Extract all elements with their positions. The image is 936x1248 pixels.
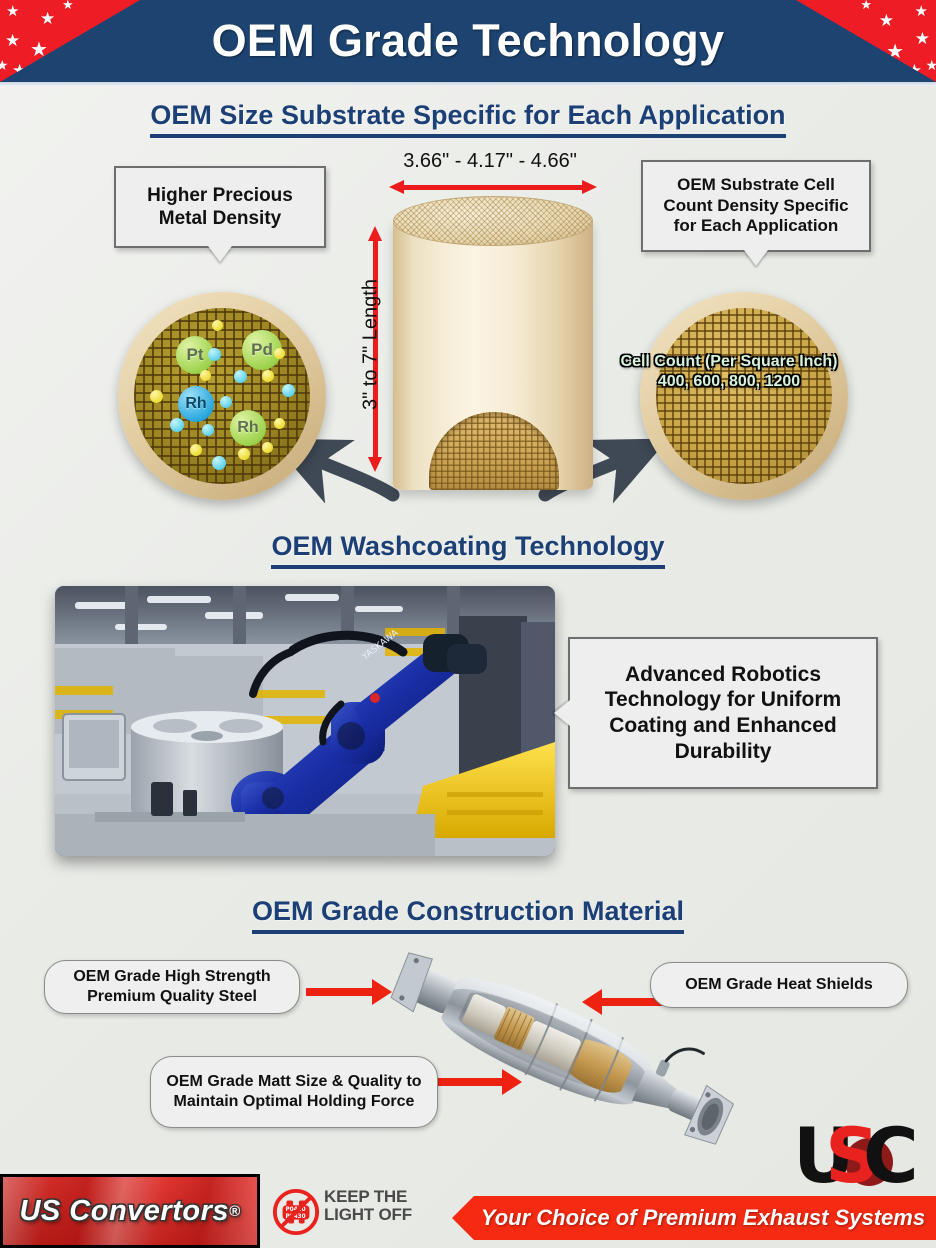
callout-text: OEM Substrate Cell Count Density Specifi… xyxy=(651,175,861,237)
callout-text: Higher Precious Metal Density xyxy=(124,184,316,230)
metal-dot xyxy=(208,348,221,361)
footer-tagline-banner: Your Choice of Premium Exhaust Systems xyxy=(452,1196,936,1240)
cell-count-annotation: Cell Count (Per Square Inch) 400, 600, 8… xyxy=(594,352,864,391)
diameter-dimension-arrow-icon xyxy=(389,180,597,194)
header-divider xyxy=(0,82,936,86)
arrow-to-matt-icon xyxy=(432,1078,524,1086)
page-header: ★ ★ ★ ★ ★ ★ ★ ★ ★ ★ ★ ★ ★ ★ OEM Grade Te… xyxy=(0,0,936,82)
arrow-to-steel-icon xyxy=(306,988,392,996)
tagline-text: Your Choice of Premium Exhaust Systems xyxy=(481,1205,925,1231)
callout-tail xyxy=(744,250,768,266)
arrowhead-bottom xyxy=(368,457,382,472)
substrate-cylinder xyxy=(393,196,593,496)
substrate-cell-grid: Pt Pd Rh Rh xyxy=(134,308,310,484)
callout-advanced-robotics: Advanced Robotics Technology for Uniform… xyxy=(568,637,878,789)
metal-symbol: Rh xyxy=(185,395,206,413)
brand-text: US Convertors xyxy=(19,1195,229,1228)
usc-letter-c: C xyxy=(863,1112,919,1190)
callout-premium-quality-steel: OEM Grade High Strength Premium Quality … xyxy=(44,960,300,1014)
substrate-face-cell-count xyxy=(640,292,848,500)
section-heading-construction: OEM Grade Construction Material xyxy=(0,896,936,934)
arrowhead xyxy=(582,989,602,1015)
keep-light-line-1: KEEP THE xyxy=(324,1188,444,1206)
usc-logo: U S C xyxy=(795,1112,923,1190)
metal-dot xyxy=(170,418,184,432)
arrowhead xyxy=(502,1069,522,1095)
metal-particle-rh-green: Rh xyxy=(230,410,266,446)
callout-text: Advanced Robotics Technology for Uniform… xyxy=(578,662,868,764)
metal-dot xyxy=(220,396,232,408)
callout-heat-shields: OEM Grade Heat Shields xyxy=(650,962,908,1008)
metal-dot xyxy=(262,442,273,453)
metal-dot xyxy=(234,370,247,383)
arrow-shaft xyxy=(306,988,374,996)
callout-text: OEM Grade Matt Size & Quality to Maintai… xyxy=(161,1072,427,1112)
metal-dot xyxy=(190,444,202,456)
washcoating-robot-photo: YASKAWA xyxy=(55,586,555,856)
metal-symbol: Pd xyxy=(251,340,273,360)
substrate-cell-grid xyxy=(656,308,832,484)
metal-symbol: Pt xyxy=(187,345,204,365)
callout-text: OEM Grade Heat Shields xyxy=(685,975,873,995)
registered-mark: ® xyxy=(229,1203,241,1220)
callout-tail xyxy=(554,700,570,726)
us-convertors-logo: US Convertors® xyxy=(0,1174,260,1248)
arrowhead xyxy=(372,979,392,1005)
substrate-face-precious-metals: Pt Pd Rh Rh xyxy=(118,292,326,500)
infographic-page: ★ ★ ★ ★ ★ ★ ★ ★ ★ ★ ★ ★ ★ ★ OEM Grade Te… xyxy=(0,0,936,1248)
metal-dot xyxy=(202,424,214,436)
keep-light-off-label: KEEP THE LIGHT OFF xyxy=(324,1188,444,1225)
cell-count-title: Cell Count (Per Square Inch) xyxy=(594,352,864,372)
arrowhead-right xyxy=(582,180,597,194)
arrow-shaft xyxy=(432,1078,504,1086)
section-heading-substrate: OEM Size Substrate Specific for Each App… xyxy=(0,100,936,138)
callout-higher-precious-metal-density: Higher Precious Metal Density xyxy=(114,166,326,248)
callout-matt-holding-force: OEM Grade Matt Size & Quality to Maintai… xyxy=(150,1056,438,1128)
section-heading-washcoating: OEM Washcoating Technology xyxy=(0,531,936,569)
callout-text: OEM Grade High Strength Premium Quality … xyxy=(55,967,289,1007)
metal-dot xyxy=(200,370,211,381)
metal-dot xyxy=(274,418,285,429)
arrow-shaft xyxy=(402,185,584,190)
section-heading-construction-text: OEM Grade Construction Material xyxy=(252,896,684,934)
keep-the-light-off-badge: P0420 P0430 KEEP THE LIGHT OFF xyxy=(272,1186,437,1240)
section-heading-substrate-text: OEM Size Substrate Specific for Each App… xyxy=(150,100,785,138)
metal-symbol: Rh xyxy=(237,419,258,437)
length-label: 3" to 7" Length xyxy=(360,255,383,435)
metal-dot xyxy=(282,384,295,397)
metal-particle-rh-blue: Rh xyxy=(178,386,214,422)
callout-oem-substrate-cell-count: OEM Substrate Cell Count Density Specifi… xyxy=(641,160,871,252)
keep-light-line-2: LIGHT OFF xyxy=(324,1206,444,1224)
diameter-label: 3.66" - 4.17" - 4.66" xyxy=(340,150,640,173)
metal-dot xyxy=(150,390,163,403)
cell-count-values: 400, 600, 800, 1200 xyxy=(594,372,864,392)
callout-tail xyxy=(208,246,232,262)
metal-dot xyxy=(274,348,285,359)
brand-name: US Convertors® xyxy=(3,1177,257,1245)
metal-dot xyxy=(212,456,226,470)
no-check-engine-light-icon: P0420 P0430 xyxy=(272,1188,320,1236)
usc-logo-mark-icon: U S C xyxy=(795,1112,923,1190)
robot-photo-illustration: YASKAWA xyxy=(55,586,555,856)
section-heading-washcoating-text: OEM Washcoating Technology xyxy=(271,531,664,569)
page-title: OEM Grade Technology xyxy=(0,0,936,82)
cylinder-cutaway-cells xyxy=(429,412,559,490)
cylinder-body xyxy=(393,218,593,490)
metal-dot xyxy=(262,370,274,382)
cylinder-top-face xyxy=(393,196,593,246)
metal-dot xyxy=(238,448,250,460)
metal-dot xyxy=(212,320,223,331)
